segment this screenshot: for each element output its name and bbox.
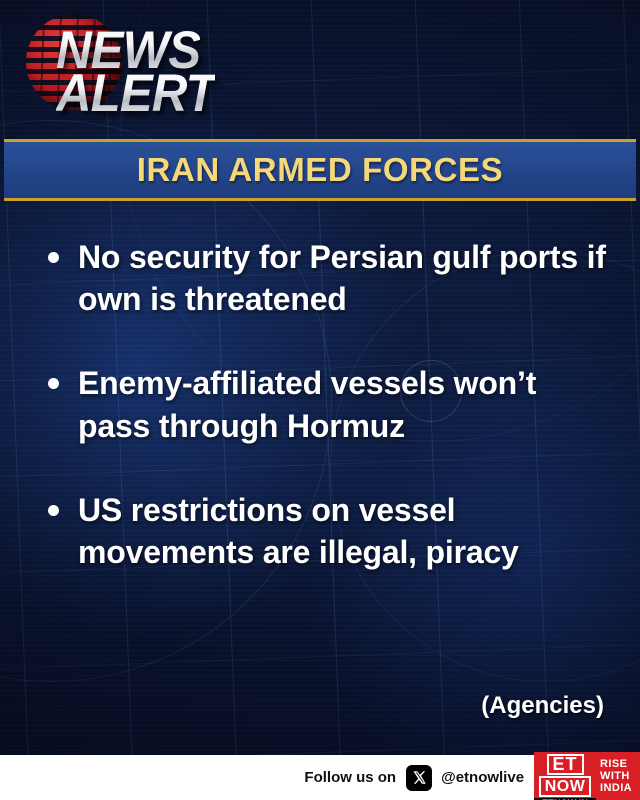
etnow-logo-now: NOW — [539, 776, 592, 797]
bullet-dot-icon — [48, 505, 59, 516]
etnow-logo-et: ET — [547, 754, 584, 775]
follow-us-label: Follow us on — [304, 769, 396, 786]
bullet-list: No security for Persian gulf ports if ow… — [0, 236, 640, 615]
bullet-text: Enemy-affiliated vessels won’t pass thro… — [78, 362, 616, 446]
source-attribution: (Agencies) — [481, 692, 604, 720]
list-item: US restrictions on vessel movements are … — [0, 489, 640, 573]
news-alert-logo: NEWS ALERT — [0, 0, 300, 128]
x-twitter-icon[interactable] — [406, 765, 432, 791]
footer-bar: Follow us on @etnowlive ET NOW ETNOW.IN … — [0, 755, 640, 800]
etnow-tagline: RISE WITH INDIA — [596, 752, 640, 800]
bullet-dot-icon — [48, 252, 59, 263]
etnow-tagline-line-1: RISE — [600, 758, 632, 770]
bullet-text: US restrictions on vessel movements are … — [78, 489, 616, 573]
list-item: Enemy-affiliated vessels won’t pass thro… — [0, 362, 640, 446]
etnow-logo: ET NOW ETNOW.IN RISE WITH INDIA — [534, 752, 640, 800]
social-handle[interactable]: @etnowlive — [441, 769, 524, 786]
news-alert-card: NEWS ALERT IRAN ARMED FORCES No security… — [0, 0, 640, 800]
page-title: IRAN ARMED FORCES — [137, 151, 503, 189]
bullet-text: No security for Persian gulf ports if ow… — [78, 236, 616, 320]
headline-bar: IRAN ARMED FORCES — [4, 139, 636, 201]
etnow-tagline-line-2: WITH — [600, 770, 632, 782]
list-item: No security for Persian gulf ports if ow… — [0, 236, 640, 320]
news-alert-line-2: ALERT — [56, 63, 215, 124]
etnow-tagline-line-3: INDIA — [600, 782, 632, 794]
bullet-dot-icon — [48, 378, 59, 389]
etnow-logo-mark: ET NOW ETNOW.IN — [534, 752, 596, 800]
